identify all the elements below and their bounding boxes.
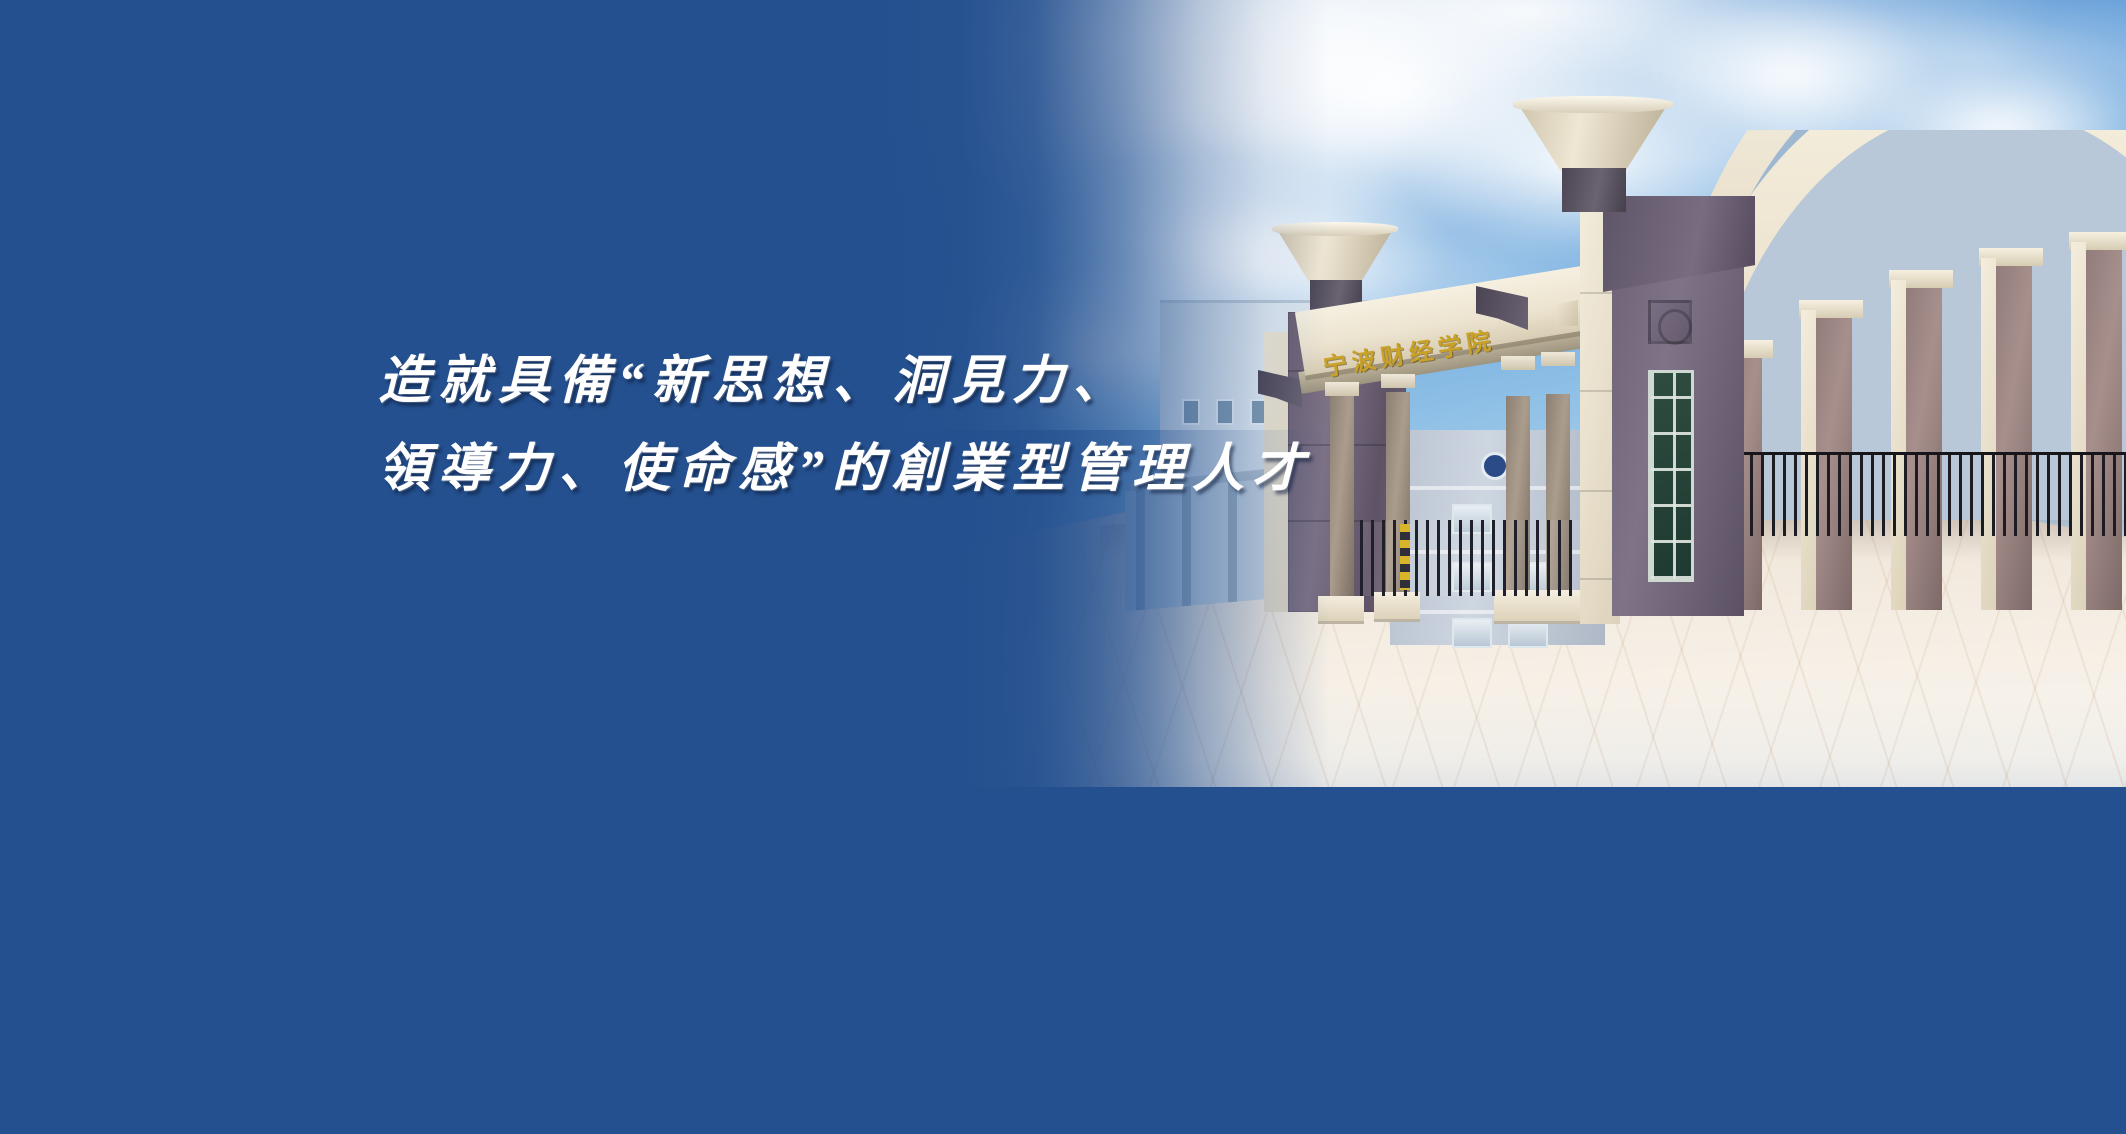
photo-bottom-fade [760, 690, 2126, 787]
headline-line-2: 領導力、使命感”的創業型管理人才 [378, 426, 1312, 514]
campus-hero-banner: 宁波财经学院 [0, 0, 2126, 1134]
headline-line-1: 造就具備“新思想、洞見力、 [378, 338, 1312, 426]
banner-headline: 造就具備“新思想、洞見力、 領導力、使命感”的創業型管理人才 [378, 338, 1312, 514]
bottom-color-band [0, 787, 2126, 1134]
